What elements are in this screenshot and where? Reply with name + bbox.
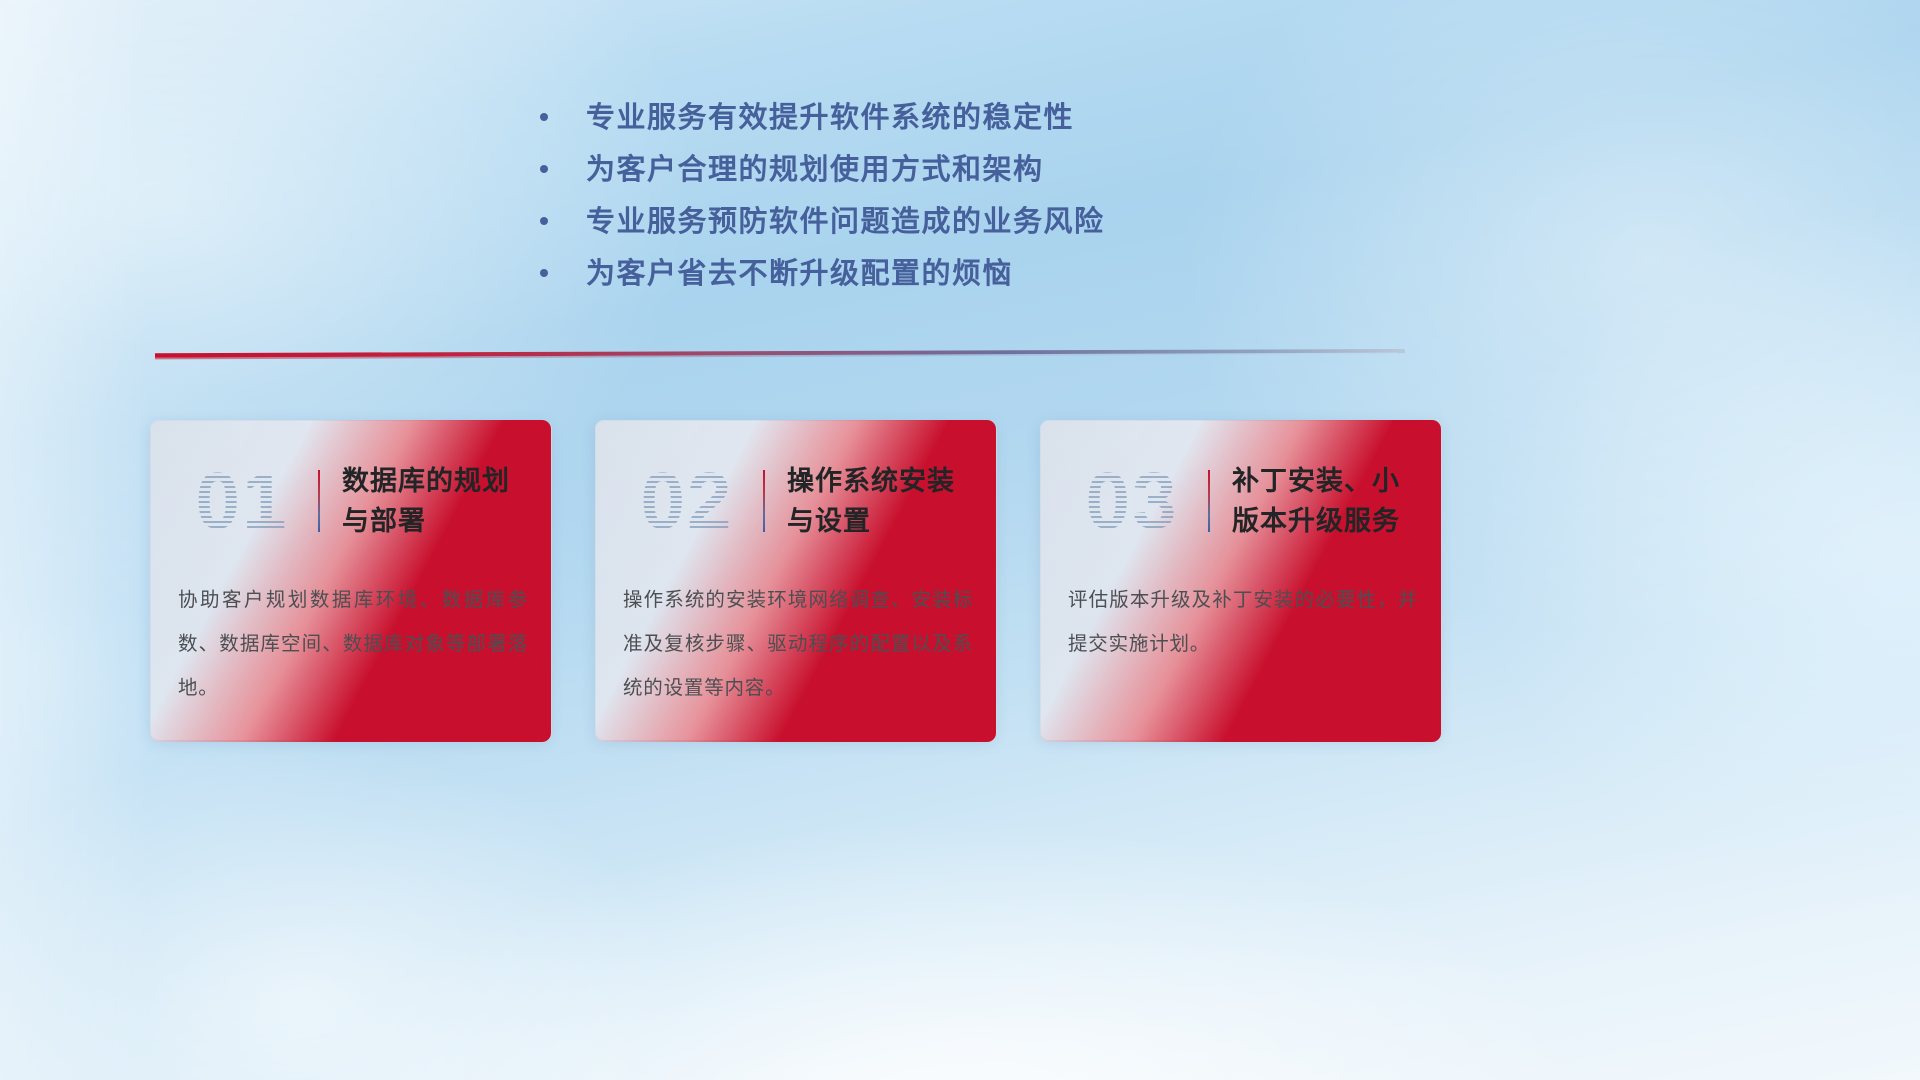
bullet-dot-icon	[540, 217, 548, 225]
card-title: 数据库的规划 与部署	[342, 461, 550, 541]
card-divider-bar	[318, 470, 320, 532]
card-title: 操作系统安装 与设置	[787, 461, 995, 541]
card-description: 评估版本升级及补丁安装的必要性，并提交实施计划。	[1068, 578, 1418, 666]
benefits-bullet-list: 专业服务有效提升软件系统的稳定性 为客户合理的规划使用方式和架构 专业服务预防软…	[540, 92, 1240, 300]
card-number: 02	[617, 451, 757, 551]
card-number: 03	[1062, 451, 1202, 551]
service-card[interactable]: 01 数据库的规划 与部署 协助客户规划数据库环境、数据库参数、数据库空间、数据…	[150, 420, 550, 740]
card-divider-bar	[1208, 470, 1210, 532]
service-card[interactable]: 03 补丁安装、小 版本升级服务 评估版本升级及补丁安装的必要性，并提交实施计划…	[1040, 420, 1440, 740]
card-title: 补丁安装、小 版本升级服务	[1232, 461, 1440, 541]
card-header: 03 补丁安装、小 版本升级服务	[1040, 446, 1440, 556]
list-item: 为客户省去不断升级配置的烦恼	[540, 248, 1240, 300]
card-number: 01	[172, 451, 312, 551]
bullet-dot-icon	[540, 165, 548, 173]
card-title-line1: 数据库的规划	[342, 461, 540, 501]
card-title-line2: 版本升级服务	[1232, 501, 1430, 541]
bullet-text: 专业服务预防软件问题造成的业务风险	[586, 196, 1105, 248]
bullet-text: 为客户合理的规划使用方式和架构	[586, 144, 1044, 196]
bullet-dot-icon	[540, 269, 548, 277]
bullet-text: 专业服务有效提升软件系统的稳定性	[586, 92, 1074, 144]
list-item: 专业服务预防软件问题造成的业务风险	[540, 196, 1240, 248]
bullet-dot-icon	[540, 113, 548, 121]
card-title-line1: 操作系统安装	[787, 461, 985, 501]
bullet-text: 为客户省去不断升级配置的烦恼	[586, 248, 1013, 300]
list-item: 专业服务有效提升软件系统的稳定性	[540, 92, 1240, 144]
card-header: 02 操作系统安装 与设置	[595, 446, 995, 556]
card-title-line2: 与设置	[787, 501, 985, 541]
section-divider	[155, 349, 1405, 360]
service-card[interactable]: 02 操作系统安装 与设置 操作系统的安装环境网络调查、安装标准及复核步骤、驱动…	[595, 420, 995, 740]
card-divider-bar	[763, 470, 765, 532]
slide-canvas: 专业服务有效提升软件系统的稳定性 为客户合理的规划使用方式和架构 专业服务预防软…	[0, 0, 1920, 1080]
card-description: 协助客户规划数据库环境、数据库参数、数据库空间、数据库对象等部署落地。	[178, 578, 528, 710]
card-description: 操作系统的安装环境网络调查、安装标准及复核步骤、驱动程序的配置以及系统的设置等内…	[623, 578, 973, 710]
card-header: 01 数据库的规划 与部署	[150, 446, 550, 556]
card-title-line1: 补丁安装、小	[1232, 461, 1430, 501]
list-item: 为客户合理的规划使用方式和架构	[540, 144, 1240, 196]
service-card-row: 01 数据库的规划 与部署 协助客户规划数据库环境、数据库参数、数据库空间、数据…	[150, 420, 1470, 745]
card-title-line2: 与部署	[342, 501, 540, 541]
